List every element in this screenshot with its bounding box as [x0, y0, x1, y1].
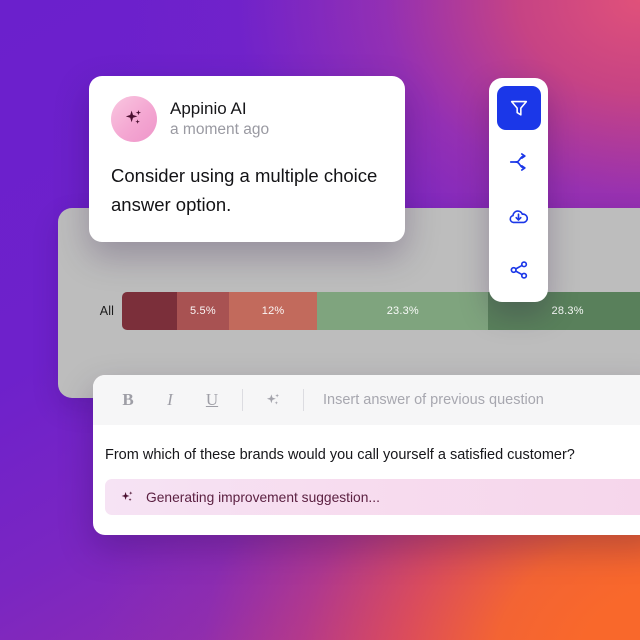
screenshot-canvas: All 5.5% 12% 23.3% 28.3% Appinio AI a [0, 0, 640, 640]
generating-suggestion-text: Generating improvement suggestion... [146, 490, 380, 505]
cloud-download-icon [507, 205, 530, 228]
avatar [111, 96, 157, 142]
share-icon [508, 259, 530, 281]
bar-segment[interactable]: 23.3% [317, 292, 488, 330]
filter-button[interactable] [497, 86, 541, 130]
ai-assist-button[interactable] [252, 383, 294, 417]
side-toolbar [489, 78, 548, 302]
insert-answer-field[interactable]: Insert answer of previous question [323, 392, 544, 408]
underline-button[interactable]: U [191, 383, 233, 417]
generating-suggestion-banner: Generating improvement suggestion... [105, 479, 640, 515]
ai-suggestion-card: Appinio AI a moment ago Consider using a… [89, 76, 405, 242]
bold-button[interactable]: B [107, 383, 149, 417]
bar-segment[interactable] [122, 292, 177, 330]
sparkle-icon [264, 391, 283, 410]
download-button[interactable] [497, 194, 541, 238]
bar-row-label: All [88, 304, 114, 318]
sparkle-icon [119, 489, 136, 506]
chart-bar-row: All 5.5% 12% 23.3% 28.3% [88, 292, 640, 330]
merge-icon [508, 151, 530, 173]
toolbar-divider [303, 389, 304, 411]
toolbar-divider [242, 389, 243, 411]
share-button[interactable] [497, 248, 541, 292]
ai-card-meta: Appinio AI a moment ago [170, 98, 269, 140]
ai-timestamp: a moment ago [170, 120, 269, 139]
merge-button[interactable] [497, 140, 541, 184]
filter-icon [508, 97, 530, 119]
ai-author-name: Appinio AI [170, 98, 269, 119]
sparkle-icon [122, 107, 146, 131]
editor-toolbar: B I U Insert answer of previous question [93, 375, 640, 425]
ai-message-text: Consider using a multiple choice answer … [111, 162, 383, 220]
bar-segment[interactable]: 12% [229, 292, 318, 330]
italic-button[interactable]: I [149, 383, 191, 417]
bar-segment[interactable]: 5.5% [177, 292, 229, 330]
ai-card-header: Appinio AI a moment ago [111, 96, 383, 142]
question-editor-card: B I U Insert answer of previous question… [93, 375, 640, 535]
stacked-bar: 5.5% 12% 23.3% 28.3% [122, 292, 640, 330]
question-text[interactable]: From which of these brands would you cal… [93, 425, 640, 465]
